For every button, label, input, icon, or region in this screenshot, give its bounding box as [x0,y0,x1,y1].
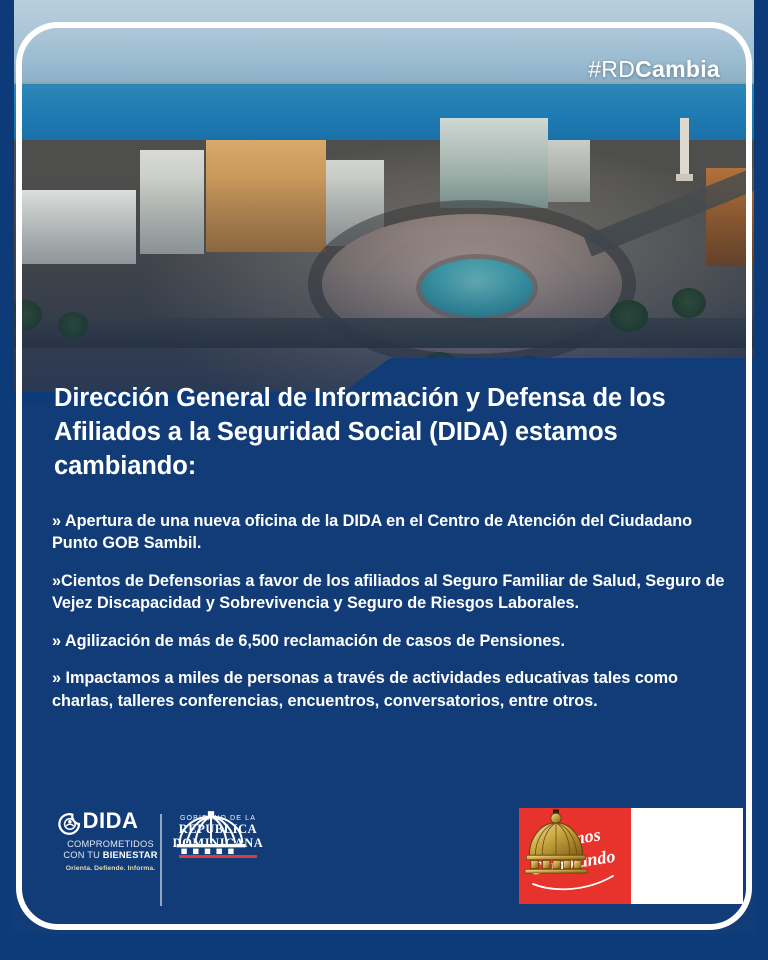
list-item: »Cientos de Defensorias a favor de los a… [52,570,742,615]
chevron-double-right-icon: » [52,632,61,650]
logo-divider [160,814,162,906]
dida-tagline-line2a: CON TU [63,850,102,860]
hashtag: #RDCambia [588,56,720,83]
list-item: » Impactamos a miles de personas a travé… [52,667,742,712]
poster: #RDCambia Dirección General de Informaci… [0,0,768,960]
dida-motto: Orienta. Defiende. Informa. [58,865,163,872]
outer-edge-left [0,0,14,960]
hashtag-prefix: #RD [588,56,635,82]
chevron-double-right-icon: » [52,512,61,530]
gobierno-logo: GOBIERNO DE LA REPÚBLICA DOMINICANA [172,810,264,858]
page-title: Dirección General de Información y Defen… [54,382,730,484]
list-item: » Apertura de una nueva oficina de la DI… [52,510,742,555]
list-item-text: Apertura de una nueva oficina de la DIDA… [52,512,692,552]
estamos-cambiando-lockup: Estamos Cambiando [519,808,743,904]
hashtag-suffix: Cambia [635,56,720,82]
content-panel: Dirección General de Información y Defen… [0,330,768,960]
list-item-text: Agilización de más de 6,500 reclamación … [61,632,565,650]
dida-emblem-icon [58,810,86,838]
estamos-white-panel [631,808,743,904]
dida-logo: DIDA COMPROMETIDOS CON TU BIENESTAR Orie… [58,810,163,872]
dome-outline-icon [172,810,250,856]
bullet-list: » Apertura de una nueva oficina de la DI… [52,510,742,727]
outer-edge-right [754,0,768,960]
list-item-text: Impactamos a miles de personas a través … [52,669,678,709]
gold-dome-seal-icon [519,808,593,876]
dida-tagline-line2b: BIENESTAR [103,850,158,860]
outer-edge-bottom [0,934,768,960]
chevron-double-right-icon: » [52,669,61,687]
list-item: » Agilización de más de 6,500 reclamació… [52,630,742,652]
dida-wordmark: DIDA [83,810,139,832]
chevron-double-right-icon: » [52,572,61,590]
list-item-text: Cientos de Defensorias a favor de los af… [52,572,724,612]
dida-tagline-line1: COMPROMETIDOS [67,839,154,849]
